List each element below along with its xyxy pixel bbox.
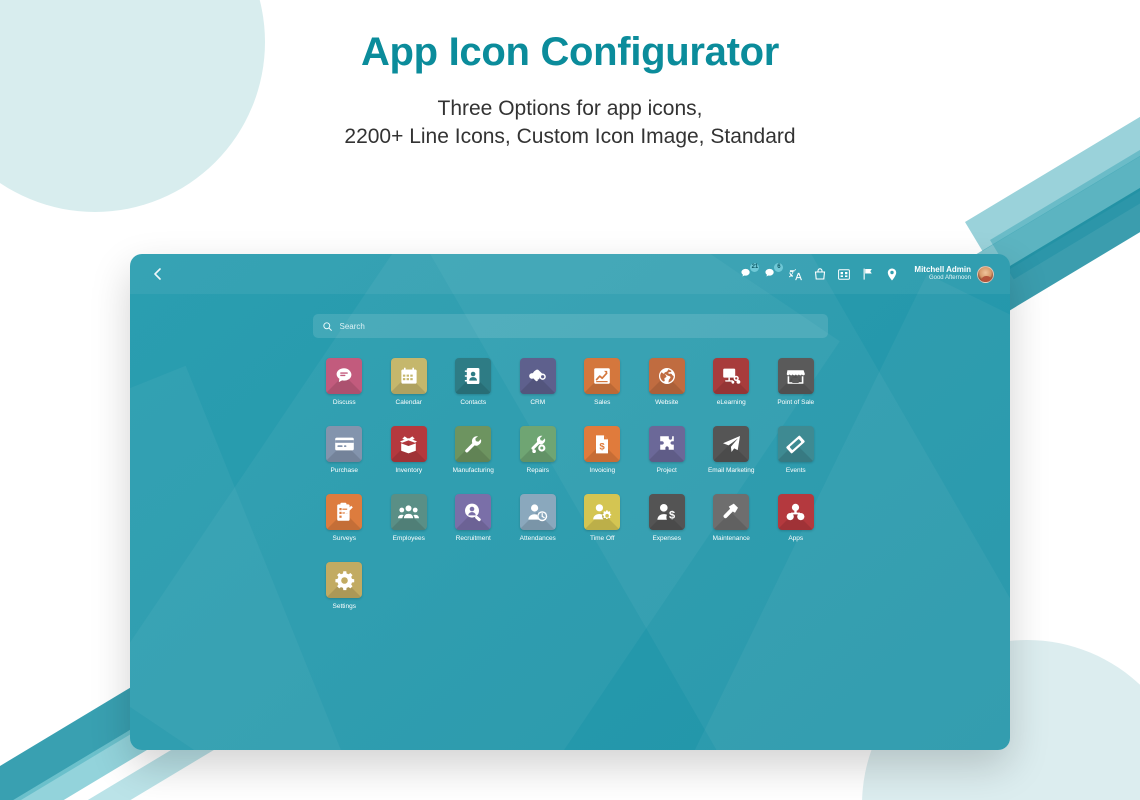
message-bubble-icon[interactable]: 6 — [764, 267, 779, 282]
open-box-icon[interactable] — [391, 426, 427, 462]
search-icon — [323, 322, 332, 331]
page-subtitle-line-1: Three Options for app icons, — [0, 95, 1140, 123]
app-label: Inventory — [395, 467, 422, 474]
app-item-recruitment[interactable]: Recruitment — [441, 494, 506, 542]
app-item-time-off[interactable]: Time Off — [570, 494, 635, 542]
page-subtitle: Three Options for app icons, 2200+ Line … — [0, 95, 1140, 151]
grid-apps-icon[interactable] — [836, 267, 851, 282]
address-book-icon[interactable] — [455, 358, 491, 394]
app-item-events[interactable]: Events — [764, 426, 829, 474]
chevron-left-icon — [154, 268, 161, 280]
app-label: Purchase — [331, 467, 358, 474]
app-label: Time Off — [590, 535, 615, 542]
handshake-icon[interactable] — [520, 358, 556, 394]
app-item-point-of-sale[interactable]: Point of Sale — [764, 358, 829, 406]
app-label: Maintenance — [713, 535, 750, 542]
clipboard-pencil-icon[interactable] — [326, 494, 362, 530]
app-label: Recruitment — [456, 535, 491, 542]
activity-bubble-icon[interactable]: 21 — [740, 267, 755, 282]
user-greeting: Good Afternoon — [914, 275, 971, 282]
app-label: Email Marketing — [708, 467, 755, 474]
storefront-icon[interactable] — [778, 358, 814, 394]
app-item-sales[interactable]: Sales — [570, 358, 635, 406]
translate-icon[interactable] — [788, 267, 803, 282]
app-label: Apps — [788, 535, 803, 542]
app-item-invoicing[interactable]: $Invoicing — [570, 426, 635, 474]
app-label: Surveys — [333, 535, 356, 542]
app-item-discuss[interactable]: Discuss — [312, 358, 377, 406]
page-title: App Icon Configurator — [0, 30, 1140, 75]
user-gear-icon[interactable] — [584, 494, 620, 530]
globe-icon[interactable] — [649, 358, 685, 394]
app-label: eLearning — [717, 399, 746, 406]
app-item-repairs[interactable]: Repairs — [506, 426, 571, 474]
app-label: Manufacturing — [453, 467, 494, 474]
window-topbar: 21 6 — [130, 254, 1010, 294]
gear-icon[interactable] — [326, 562, 362, 598]
blocks-icon[interactable] — [778, 494, 814, 530]
invoice-dollar-icon[interactable]: $ — [584, 426, 620, 462]
whiteboard-icon[interactable] — [713, 358, 749, 394]
user-text: Mitchell Admin Good Afternoon — [914, 266, 971, 281]
header: App Icon Configurator Three Options for … — [0, 0, 1140, 151]
hammer-icon[interactable] — [713, 494, 749, 530]
chat-bubble-icon[interactable] — [326, 358, 362, 394]
app-label: Settings — [333, 603, 357, 610]
search-input[interactable] — [340, 322, 818, 331]
people-group-icon[interactable] — [391, 494, 427, 530]
app-item-expenses[interactable]: $Expenses — [635, 494, 700, 542]
app-label: Attendances — [520, 535, 556, 542]
avatar[interactable] — [977, 266, 994, 283]
app-item-manufacturing[interactable]: Manufacturing — [441, 426, 506, 474]
svg-text:$: $ — [669, 509, 675, 521]
svg-text:$: $ — [600, 441, 606, 452]
wrench-gear-icon[interactable] — [520, 426, 556, 462]
user-clock-icon[interactable] — [520, 494, 556, 530]
app-item-website[interactable]: Website — [635, 358, 700, 406]
calendar-icon[interactable] — [391, 358, 427, 394]
back-button[interactable] — [146, 263, 168, 285]
flag-icon[interactable] — [860, 267, 875, 282]
app-label: Project — [657, 467, 677, 474]
app-item-calendar[interactable]: Calendar — [377, 358, 442, 406]
app-label: CRM — [530, 399, 545, 406]
app-item-email-marketing[interactable]: Email Marketing — [699, 426, 764, 474]
app-grid: DiscussCalendarContactsCRMSalesWebsiteeL… — [312, 358, 828, 611]
activity-badge: 21 — [750, 263, 759, 272]
magnifier-user-icon[interactable] — [455, 494, 491, 530]
wrench-icon[interactable] — [455, 426, 491, 462]
app-item-contacts[interactable]: Contacts — [441, 358, 506, 406]
user-dollar-icon[interactable]: $ — [649, 494, 685, 530]
app-label: Sales — [594, 399, 610, 406]
credit-card-icon[interactable] — [326, 426, 362, 462]
app-label: Repairs — [527, 467, 549, 474]
puzzle-piece-icon[interactable] — [649, 426, 685, 462]
paper-plane-icon[interactable] — [713, 426, 749, 462]
ticket-icon[interactable] — [778, 426, 814, 462]
bag-icon[interactable] — [812, 267, 827, 282]
app-item-settings[interactable]: Settings — [312, 562, 377, 610]
app-item-maintenance[interactable]: Maintenance — [699, 494, 764, 542]
search-box[interactable] — [313, 314, 828, 338]
message-badge: 6 — [774, 263, 783, 272]
app-item-crm[interactable]: CRM — [506, 358, 571, 406]
app-label: Employees — [393, 535, 425, 542]
app-label: Expenses — [652, 535, 681, 542]
app-item-project[interactable]: Project — [635, 426, 700, 474]
app-item-employees[interactable]: Employees — [377, 494, 442, 542]
search-row — [130, 294, 1010, 338]
app-label: Calendar — [396, 399, 422, 406]
page-subtitle-line-2: 2200+ Line Icons, Custom Icon Image, Sta… — [0, 123, 1140, 151]
chart-up-icon[interactable] — [584, 358, 620, 394]
user-name: Mitchell Admin — [914, 266, 971, 275]
app-item-apps[interactable]: Apps — [764, 494, 829, 542]
app-item-inventory[interactable]: Inventory — [377, 426, 442, 474]
app-label: Events — [786, 467, 806, 474]
app-label: Contacts — [460, 399, 486, 406]
app-item-purchase[interactable]: Purchase — [312, 426, 377, 474]
app-item-attendances[interactable]: Attendances — [506, 494, 571, 542]
app-label: Website — [655, 399, 678, 406]
app-label: Invoicing — [589, 467, 615, 474]
app-label: Discuss — [333, 399, 356, 406]
user-menu[interactable]: Mitchell Admin Good Afternoon — [914, 266, 994, 283]
app-item-surveys[interactable]: Surveys — [312, 494, 377, 542]
page-root: App Icon Configurator Three Options for … — [0, 0, 1140, 800]
system-tray: 21 6 — [740, 266, 994, 283]
pin-icon[interactable] — [884, 267, 899, 282]
app-item-elearning[interactable]: eLearning — [699, 358, 764, 406]
app-label: Point of Sale — [777, 399, 814, 406]
app-window: 21 6 — [130, 254, 1010, 750]
